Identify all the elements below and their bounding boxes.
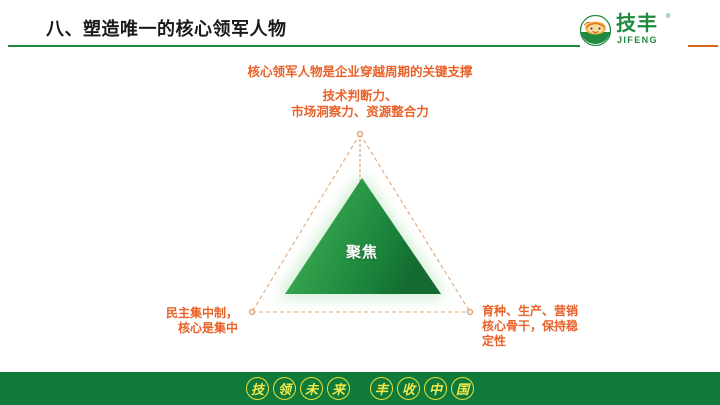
corner-label-left: 民主集中制， 核心是集中 [108,306,238,336]
footer-slogan-part2: 丰收中国 [368,377,476,400]
footer-slogan-part1: 技领未来 [244,377,352,400]
green-triangle [285,178,441,294]
brand-logo: 技丰 ® JIFENG [580,14,685,48]
triangle-center-label: 聚焦 [312,241,412,262]
slogan-char: 收 [397,377,420,400]
slogan-char: 来 [327,377,350,400]
corner-label-left-line2: 核心是集中 [108,321,238,336]
footer-slogan: 技领未来 丰收中国 [0,372,720,405]
corner-label-left-line1: 民主集中制， [108,306,238,321]
slogan-char: 丰 [370,377,393,400]
header-divider-green [8,45,580,47]
header-divider-orange [688,45,718,47]
slide-canvas: 八、塑造唯一的核心领军人物 技丰 ® JIFENG 核心领军人物是企业穿越周期的… [0,0,720,405]
logo-brand-en: JIFENG [617,35,658,45]
corner-label-right-line1: 育种、生产、营销 [482,304,622,319]
jifeng-mark-icon [580,15,611,46]
slogan-char: 国 [451,377,474,400]
corner-label-right-line3: 定性 [482,334,622,349]
corner-label-right: 育种、生产、营销 核心骨干，保持稳 定性 [482,304,622,349]
dashed-outline-triangle [249,131,472,314]
logo-registered-mark: ® [666,14,670,20]
slogan-char: 中 [424,377,447,400]
slogan-char: 领 [273,377,296,400]
lead-heading-secondary-line2: 市场洞察力、资源整合力 [0,101,720,120]
corner-label-right-line2: 核心骨干，保持稳 [482,319,622,334]
page-title: 八、塑造唯一的核心领军人物 [46,15,287,41]
lead-heading-primary: 核心领军人物是企业穿越周期的关键支撑 [0,61,720,80]
logo-brand-cn: 技丰 [616,13,658,35]
slogan-char: 未 [300,377,323,400]
slogan-char: 技 [246,377,269,400]
